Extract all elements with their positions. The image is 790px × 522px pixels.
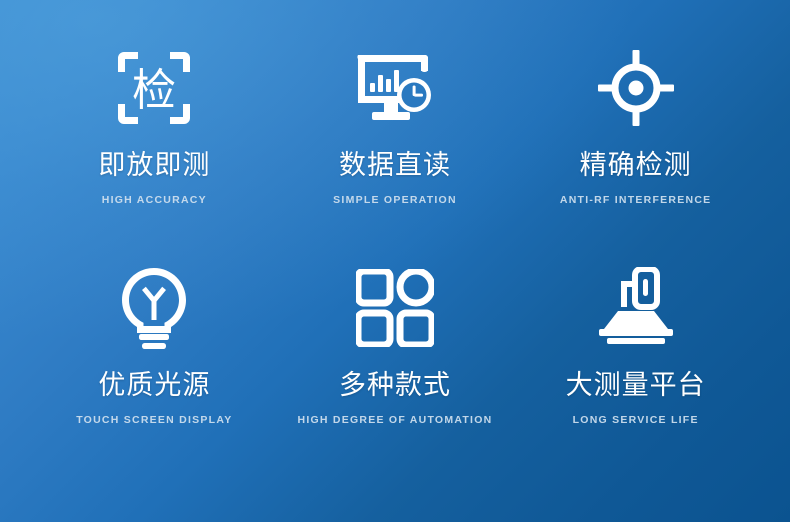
feature-title: 大测量平台	[566, 372, 706, 399]
feature-caption: LONG SERVICE LIFE	[573, 414, 699, 426]
feature-card-touch-screen-display[interactable]: 优质光源 TOUCH SCREEN DISPLAY	[34, 260, 275, 478]
feature-card-high-accuracy[interactable]: 检 即放即测 HIGH ACCURACY	[34, 42, 275, 260]
feature-caption: HIGH ACCURACY	[102, 194, 207, 206]
feature-caption: SIMPLE OPERATION	[333, 194, 457, 206]
feature-grid: 检 即放即测 HIGH ACCURACY	[0, 0, 790, 522]
feature-caption: TOUCH SCREEN DISPLAY	[76, 414, 232, 426]
feature-banner: 检 即放即测 HIGH ACCURACY	[0, 0, 790, 522]
grid-squares-circle-icon	[356, 260, 434, 356]
monitor-bar-chart-clock-icon	[354, 42, 436, 134]
scan-frame-check-icon: 检	[116, 42, 192, 134]
svg-text:检: 检	[132, 65, 176, 116]
feature-card-long-service-life[interactable]: 大测量平台 LONG SERVICE LIFE	[515, 260, 756, 478]
feature-card-simple-operation[interactable]: 数据直读 SIMPLE OPERATION	[275, 42, 516, 260]
feature-card-high-degree-of-automation[interactable]: 多种款式 HIGH DEGREE OF AUTOMATION	[275, 260, 516, 478]
light-bulb-icon	[118, 260, 190, 356]
feature-title: 精确检测	[580, 152, 692, 179]
feature-card-anti-rf-interference[interactable]: 精确检测 ANTI-RF INTERFERENCE	[515, 42, 756, 260]
crosshair-target-icon	[597, 42, 675, 134]
feature-caption: ANTI-RF INTERFERENCE	[560, 194, 712, 206]
feature-title: 优质光源	[98, 372, 210, 399]
feature-caption: HIGH DEGREE OF AUTOMATION	[298, 414, 493, 426]
feature-title: 即放即测	[98, 152, 210, 179]
measuring-platform-icon	[593, 260, 679, 356]
feature-title: 数据直读	[339, 152, 451, 179]
feature-title: 多种款式	[339, 372, 451, 399]
